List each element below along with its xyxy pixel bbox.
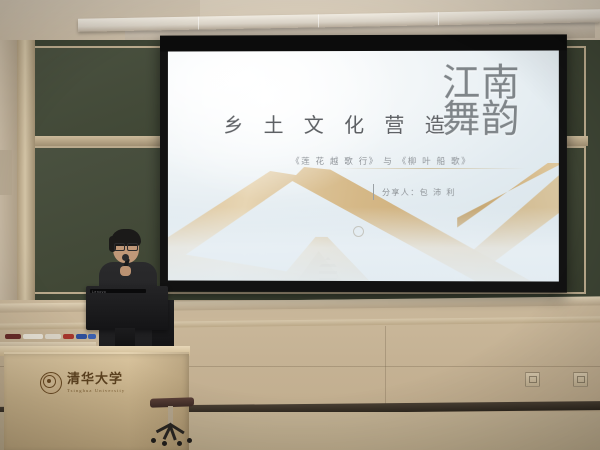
slide-big-title-line2: 舞韵 bbox=[442, 101, 520, 138]
slide-big-title-line1: 江南 bbox=[442, 65, 520, 102]
glasses-icon bbox=[114, 243, 138, 249]
chair-caster-3 bbox=[177, 441, 182, 446]
slide-subtitle: 《莲 花 越 歌 行》 与 《柳 叶 船 歌》 bbox=[291, 155, 471, 167]
marker-blue-2 bbox=[88, 334, 96, 339]
presenter-accent-bar bbox=[373, 184, 374, 200]
presenter-monitor[interactable]: Lenovo bbox=[86, 286, 168, 330]
wall-panel-seam-1 bbox=[385, 326, 386, 404]
power-outlet-right[interactable] bbox=[573, 372, 588, 387]
slide-big-title: 江南 舞韵 bbox=[442, 65, 520, 138]
tsinghua-logo-chinese: 清华大学 bbox=[67, 373, 125, 386]
tsinghua-logo-english: Tsinghua University bbox=[67, 388, 125, 393]
screen-top-bar bbox=[160, 34, 567, 51]
chair-caster-4 bbox=[187, 438, 192, 443]
marker-red bbox=[63, 334, 74, 339]
left-wall-panel-seam bbox=[0, 150, 12, 195]
marker-white bbox=[23, 334, 43, 339]
marker-blue bbox=[76, 334, 87, 339]
slide-main-title: 乡 土 文 化 营 造 bbox=[223, 109, 451, 138]
marker-white-2 bbox=[45, 334, 61, 339]
monitor-brand-label: Lenovo bbox=[92, 290, 106, 294]
tsinghua-logo: 清华大学 Tsinghua University bbox=[40, 372, 125, 394]
presenter-hand bbox=[120, 266, 131, 276]
microphone-head bbox=[122, 254, 129, 261]
presentation-slide: 江南 舞韵 乡 土 文 化 营 造 《莲 花 越 歌 行》 与 《柳 叶 船 歌… bbox=[168, 50, 559, 281]
tsinghua-seal-icon bbox=[40, 372, 62, 394]
chair-caster-2 bbox=[162, 441, 167, 446]
projection-screen: 江南 舞韵 乡 土 文 化 营 造 《莲 花 越 歌 行》 与 《柳 叶 船 歌… bbox=[160, 34, 567, 292]
slide-subtitle-rule bbox=[335, 168, 526, 169]
power-outlet-left[interactable] bbox=[525, 372, 540, 387]
chair-base bbox=[148, 424, 198, 444]
chair-caster-1 bbox=[151, 438, 156, 443]
mist-overlay bbox=[168, 207, 559, 282]
marker-dark-red bbox=[5, 334, 21, 339]
lecture-hall-photo: 江南 舞韵 乡 土 文 化 营 造 《莲 花 越 歌 行》 与 《柳 叶 船 歌… bbox=[0, 0, 600, 450]
board-frame-pillar bbox=[17, 40, 35, 312]
marker-tray bbox=[3, 332, 95, 344]
sun-circle-icon bbox=[353, 226, 364, 237]
slide-presenter-line: 分享人：包 沛 利 bbox=[382, 187, 456, 198]
